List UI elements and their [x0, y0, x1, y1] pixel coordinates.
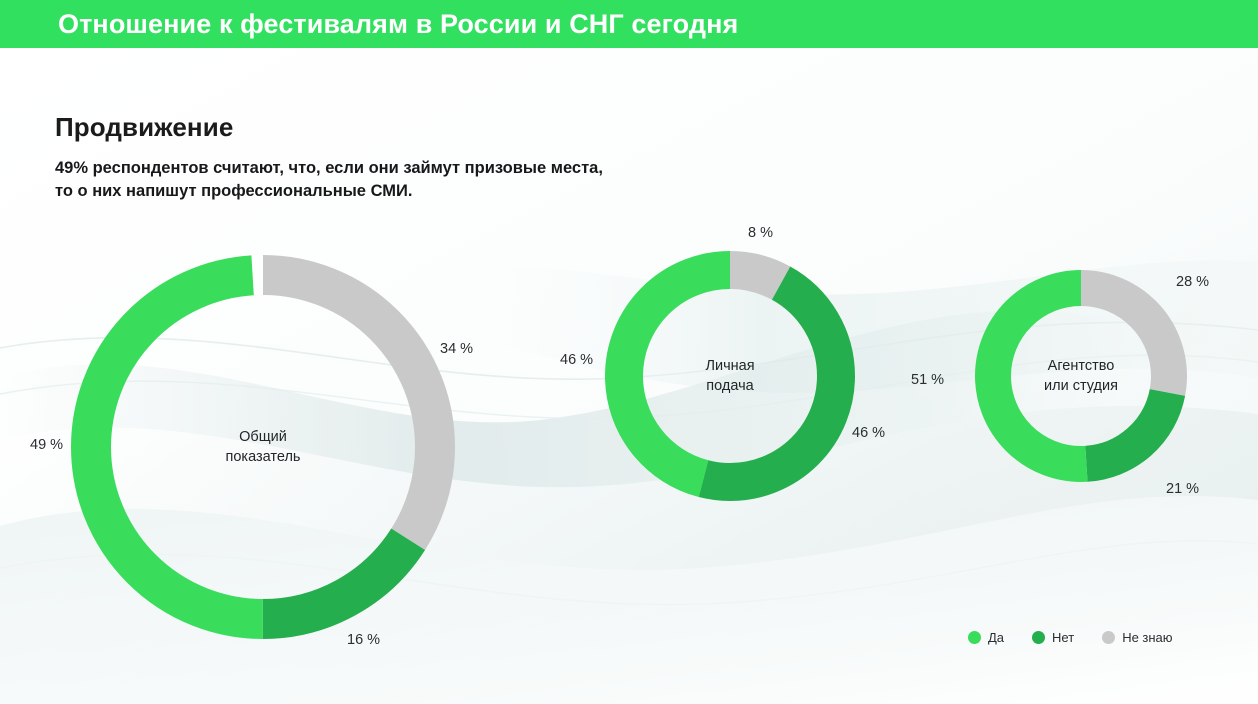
legend-item-no[interactable]: Нет [1032, 630, 1074, 645]
donut-chart-overall: Общий показатель [71, 255, 455, 639]
charts-layer: Общий показатель 34 % 16 % 49 % Личная п… [0, 0, 1258, 704]
pct-label-personal-yes: 46 % [560, 352, 593, 368]
header-band: Отношение к фестивалям в России и СНГ се… [0, 0, 1258, 48]
pct-label-agency-no: 21 % [1166, 481, 1199, 497]
slide-root: Отношение к фестивалям в России и СНГ се… [0, 0, 1258, 704]
legend-item-yes[interactable]: Да [968, 630, 1004, 645]
legend-label-no: Нет [1052, 630, 1074, 645]
section-subtitle: 49% респондентов считают, что, если они … [55, 157, 603, 204]
pct-label-overall-yes: 49 % [30, 437, 63, 453]
legend-label-yes: Да [988, 630, 1004, 645]
pct-label-overall-no: 16 % [347, 632, 380, 648]
pct-label-agency-yes: 51 % [911, 372, 944, 388]
donut-chart-agency-or-studio: Агентство или студия [975, 270, 1187, 482]
chart-legend: Да Нет Не знаю [968, 630, 1173, 645]
legend-dot-icon-no [1032, 631, 1045, 644]
legend-dot-icon-dontknow [1102, 631, 1115, 644]
pct-label-overall-dontknow: 34 % [440, 341, 473, 357]
page-title: Отношение к фестивалям в России и СНГ се… [58, 9, 738, 40]
section-title: Продвижение [55, 112, 603, 143]
legend-dot-icon-yes [968, 631, 981, 644]
intro-text-block: Продвижение 49% респондентов считают, чт… [55, 112, 603, 204]
pct-label-agency-dontknow: 28 % [1176, 274, 1209, 290]
legend-label-dontknow: Не знаю [1122, 630, 1172, 645]
legend-item-dontknow[interactable]: Не знаю [1102, 630, 1172, 645]
pct-label-personal-no: 46 % [852, 425, 885, 441]
pct-label-personal-dontknow: 8 % [748, 225, 773, 241]
donut-chart-personal-submission: Личная подача [605, 251, 855, 501]
